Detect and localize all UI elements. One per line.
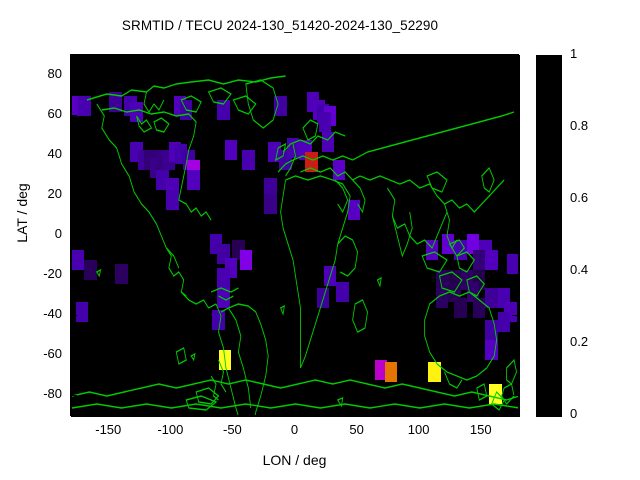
heatmap-cell xyxy=(426,240,438,260)
colorbar-tick xyxy=(537,272,543,273)
colorbar-tick xyxy=(555,200,561,201)
heatmap-cell xyxy=(274,96,286,116)
x-axis-tick xyxy=(419,409,420,415)
heatmap-cell xyxy=(348,200,360,220)
heatmap-cell xyxy=(473,250,485,270)
heatmap-cell xyxy=(485,340,497,360)
heatmap-cell xyxy=(212,310,224,330)
figure-canvas: SRMTID / TECU 2024-130_51420-2024-130_52… xyxy=(0,0,640,480)
y-axis-tick xyxy=(512,195,518,196)
heatmap-cell xyxy=(115,264,127,284)
page-title: SRMTID / TECU 2024-130_51420-2024-130_52… xyxy=(0,18,560,33)
x-axis-tick xyxy=(357,409,358,415)
heatmap-cell xyxy=(436,270,448,290)
y-axis-tick xyxy=(512,395,518,396)
x-axis-tick xyxy=(170,55,171,61)
colorbar-tick xyxy=(537,416,543,417)
heatmap-cells-layer xyxy=(72,56,519,416)
y-axis-tick xyxy=(71,195,77,196)
heatmap-cell xyxy=(217,288,229,308)
x-axis-tick xyxy=(170,409,171,415)
heatmap-cell xyxy=(287,138,299,158)
heatmap-plot-area[interactable] xyxy=(71,55,520,417)
y-axis-tick xyxy=(71,115,77,116)
colorbar-tick xyxy=(555,416,561,417)
y-axis-tick xyxy=(512,355,518,356)
heatmap-cell xyxy=(180,100,192,120)
colorbar-tick-label: 0.6 xyxy=(570,190,620,205)
y-tick-label: 80 xyxy=(22,66,62,81)
heatmap-cell xyxy=(507,254,519,274)
heatmap-cell xyxy=(76,302,88,322)
colorbar-tick xyxy=(555,56,561,57)
y-axis-tick xyxy=(512,315,518,316)
y-axis-tick xyxy=(512,155,518,156)
x-tick-label: 0 xyxy=(265,422,325,437)
heatmap-cell xyxy=(489,384,501,404)
x-axis-tick xyxy=(419,55,420,61)
colorbar-tick xyxy=(555,128,561,129)
y-axis-tick xyxy=(71,235,77,236)
y-axis-tick xyxy=(71,75,77,76)
colorbar-tick-label: 0.4 xyxy=(570,262,620,277)
x-axis-tick xyxy=(232,409,233,415)
heatmap-cell xyxy=(217,268,229,288)
colorbar-tick xyxy=(537,56,543,57)
heatmap-cell xyxy=(109,92,121,112)
x-axis-tick xyxy=(232,55,233,61)
y-tick-label: -80 xyxy=(22,386,62,401)
heatmap-cell xyxy=(130,102,142,122)
heatmap-cell xyxy=(219,350,231,370)
heatmap-cell xyxy=(485,288,497,308)
heatmap-cell xyxy=(436,288,448,308)
y-tick-label: 60 xyxy=(22,106,62,121)
colorbar-tick xyxy=(555,272,561,273)
y-tick-label: -60 xyxy=(22,346,62,361)
heatmap-cell xyxy=(322,132,334,152)
x-axis-tick xyxy=(295,409,296,415)
x-tick-label: -100 xyxy=(140,422,200,437)
heatmap-cell xyxy=(187,170,199,190)
heatmap-cell xyxy=(242,150,254,170)
y-axis-tick xyxy=(71,275,77,276)
heatmap-cell xyxy=(225,140,237,160)
y-axis-tick xyxy=(512,75,518,76)
y-axis-tick xyxy=(71,355,77,356)
heatmap-cell xyxy=(78,96,90,116)
heatmap-cell xyxy=(72,250,84,270)
y-axis-tick xyxy=(71,155,77,156)
x-axis-tick xyxy=(108,55,109,61)
heatmap-cell xyxy=(217,100,229,120)
colorbar-tick xyxy=(537,128,543,129)
x-axis-tick xyxy=(357,55,358,61)
heatmap-cell xyxy=(240,250,252,270)
colorbar-tick-label: 0 xyxy=(570,406,620,421)
heatmap-cell xyxy=(428,362,440,382)
heatmap-cell xyxy=(317,288,329,308)
x-tick-label: -150 xyxy=(78,422,138,437)
y-axis-tick xyxy=(71,395,77,396)
colorbar-gradient xyxy=(537,56,561,416)
heatmap-cell xyxy=(166,190,178,210)
heatmap-cell xyxy=(485,250,497,270)
heatmap-cell xyxy=(324,266,336,286)
heatmap-cell xyxy=(498,312,510,332)
colorbar-tick-label: 0.8 xyxy=(570,118,620,133)
heatmap-cell xyxy=(333,160,345,180)
colorbar-tick-label: 0.2 xyxy=(570,334,620,349)
x-axis-tick xyxy=(295,55,296,61)
heatmap-cell xyxy=(385,362,397,382)
y-axis-tick xyxy=(71,315,77,316)
colorbar-tick xyxy=(537,344,543,345)
heatmap-cell xyxy=(305,152,317,172)
colorbar-tick xyxy=(537,200,543,201)
heatmap-cell xyxy=(336,282,348,302)
x-axis-tick xyxy=(108,409,109,415)
x-axis-tick xyxy=(481,55,482,61)
heatmap-cell xyxy=(442,234,454,254)
x-tick-label: 150 xyxy=(451,422,511,437)
y-axis-tick xyxy=(512,275,518,276)
heatmap-cell xyxy=(319,112,331,132)
colorbar-tick-label: 1 xyxy=(570,46,620,61)
y-axis-tick xyxy=(512,235,518,236)
x-tick-label: -50 xyxy=(202,422,262,437)
y-axis-tick xyxy=(512,115,518,116)
colorbar-tick xyxy=(555,344,561,345)
colorbar[interactable] xyxy=(536,55,562,417)
x-axis-tick xyxy=(481,409,482,415)
heatmap-cell xyxy=(454,240,466,260)
heatmap-cell xyxy=(473,298,485,318)
heatmap-cell xyxy=(485,320,497,340)
heatmap-cell xyxy=(84,260,96,280)
y-axis-label: LAT / deg xyxy=(14,153,30,273)
heatmap-cell xyxy=(264,194,276,214)
x-axis-label: LON / deg xyxy=(0,452,589,468)
heatmap-cell xyxy=(454,298,466,318)
y-tick-label: -40 xyxy=(22,306,62,321)
x-tick-label: 100 xyxy=(389,422,449,437)
x-tick-label: 50 xyxy=(327,422,387,437)
